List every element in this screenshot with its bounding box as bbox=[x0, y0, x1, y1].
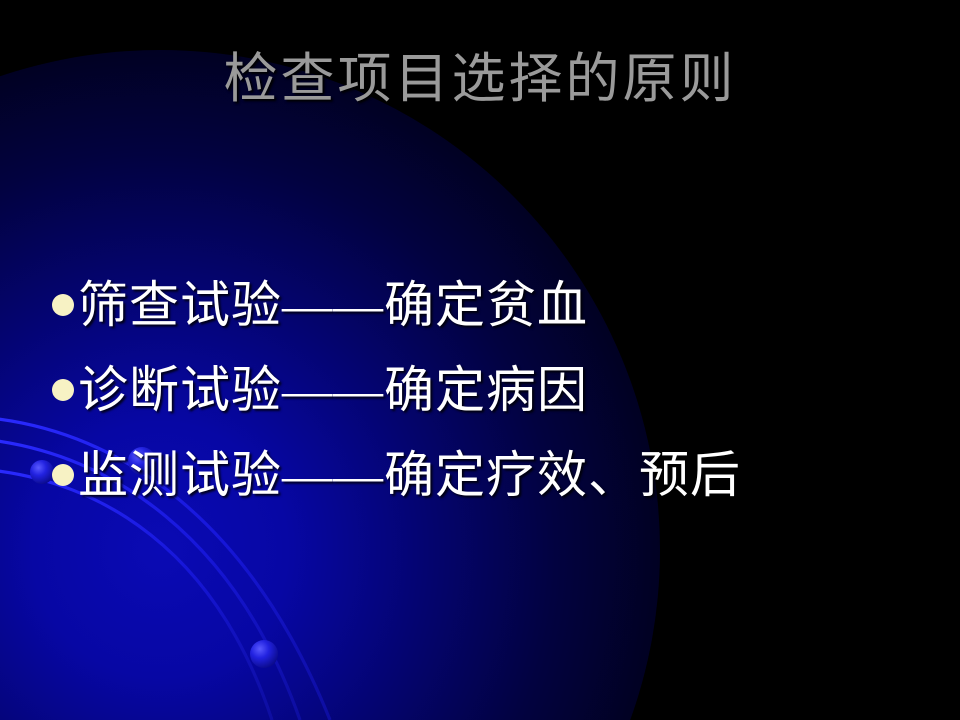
list-item-label: 诊断试验——确定病因 bbox=[78, 365, 588, 415]
orbit-sphere-left bbox=[30, 460, 54, 484]
list-item: 筛查试验——确定贫血 bbox=[52, 262, 932, 347]
orbit-sphere-bottom bbox=[250, 640, 278, 668]
disc-bullet-icon bbox=[52, 464, 74, 486]
disc-bullet-icon bbox=[52, 294, 74, 316]
slide-title: 检查项目选择的原则 bbox=[0, 48, 960, 111]
disc-bullet-icon bbox=[52, 379, 74, 401]
list-item: 诊断试验——确定病因 bbox=[52, 347, 932, 432]
list-item-label: 监测试验——确定疗效、预后 bbox=[78, 450, 741, 500]
list-item: 监测试验——确定疗效、预后 bbox=[52, 432, 932, 517]
list-item-label: 筛查试验——确定贫血 bbox=[78, 280, 588, 330]
slide-body: 筛查试验——确定贫血 诊断试验——确定病因 监测试验——确定疗效、预后 bbox=[52, 262, 932, 517]
presentation-slide: 检查项目选择的原则 筛查试验——确定贫血 诊断试验——确定病因 监测试验——确定… bbox=[0, 0, 960, 720]
